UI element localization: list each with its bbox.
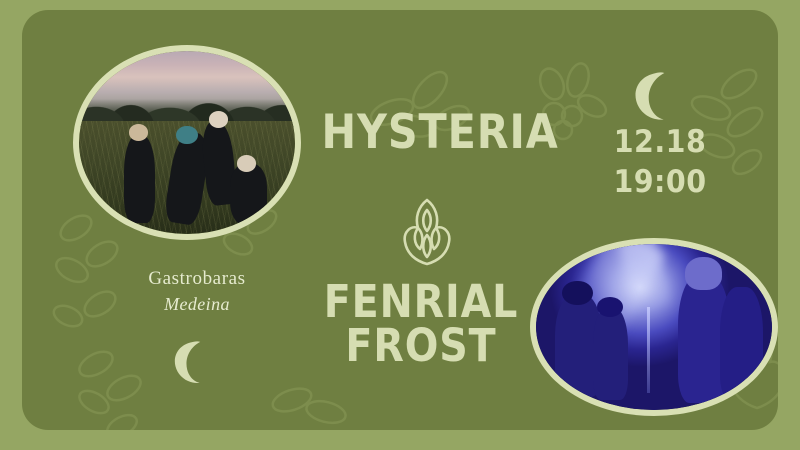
venue-block: Gastrobaras Medeina [102, 268, 292, 315]
event-time: 19:00 [605, 163, 715, 203]
band-photo-field [73, 45, 301, 240]
schedule-block: 12.18 19:00 [605, 123, 715, 202]
venue-name-line1: Gastrobaras [102, 268, 292, 290]
support-band-name: FENRIAL FROST [322, 280, 521, 368]
photo-figure-head [237, 155, 256, 171]
photo-figure-head [685, 257, 723, 290]
leaf-sprig-icon [70, 340, 180, 430]
photo-figure [720, 287, 762, 400]
photo-figure-head [209, 111, 228, 127]
photo-figure [124, 135, 154, 223]
crescent-moon-icon [630, 72, 680, 122]
event-date: 12.18 [605, 123, 715, 163]
support-band-line2: FROST [322, 324, 521, 368]
photo-mic-stand [647, 307, 650, 393]
event-poster: HYSTERIA FENRIAL FROST 12.18 19:00 Gastr… [0, 0, 800, 450]
band-photo-live [530, 238, 778, 416]
photo-figure-head [129, 124, 148, 140]
crescent-moon-icon [170, 341, 214, 385]
hop-cone-icon [396, 195, 458, 267]
photo-figure-head [176, 126, 198, 144]
photo-figure [593, 307, 628, 400]
poster-panel: HYSTERIA FENRIAL FROST 12.18 19:00 Gastr… [22, 10, 778, 430]
headliner-band-name: HYSTERIA [322, 110, 521, 156]
photo-figure-head [562, 281, 593, 306]
venue-name-line2: Medeina [102, 294, 292, 315]
leaf-sprig-icon [262, 370, 362, 430]
photo-figure [230, 164, 267, 224]
